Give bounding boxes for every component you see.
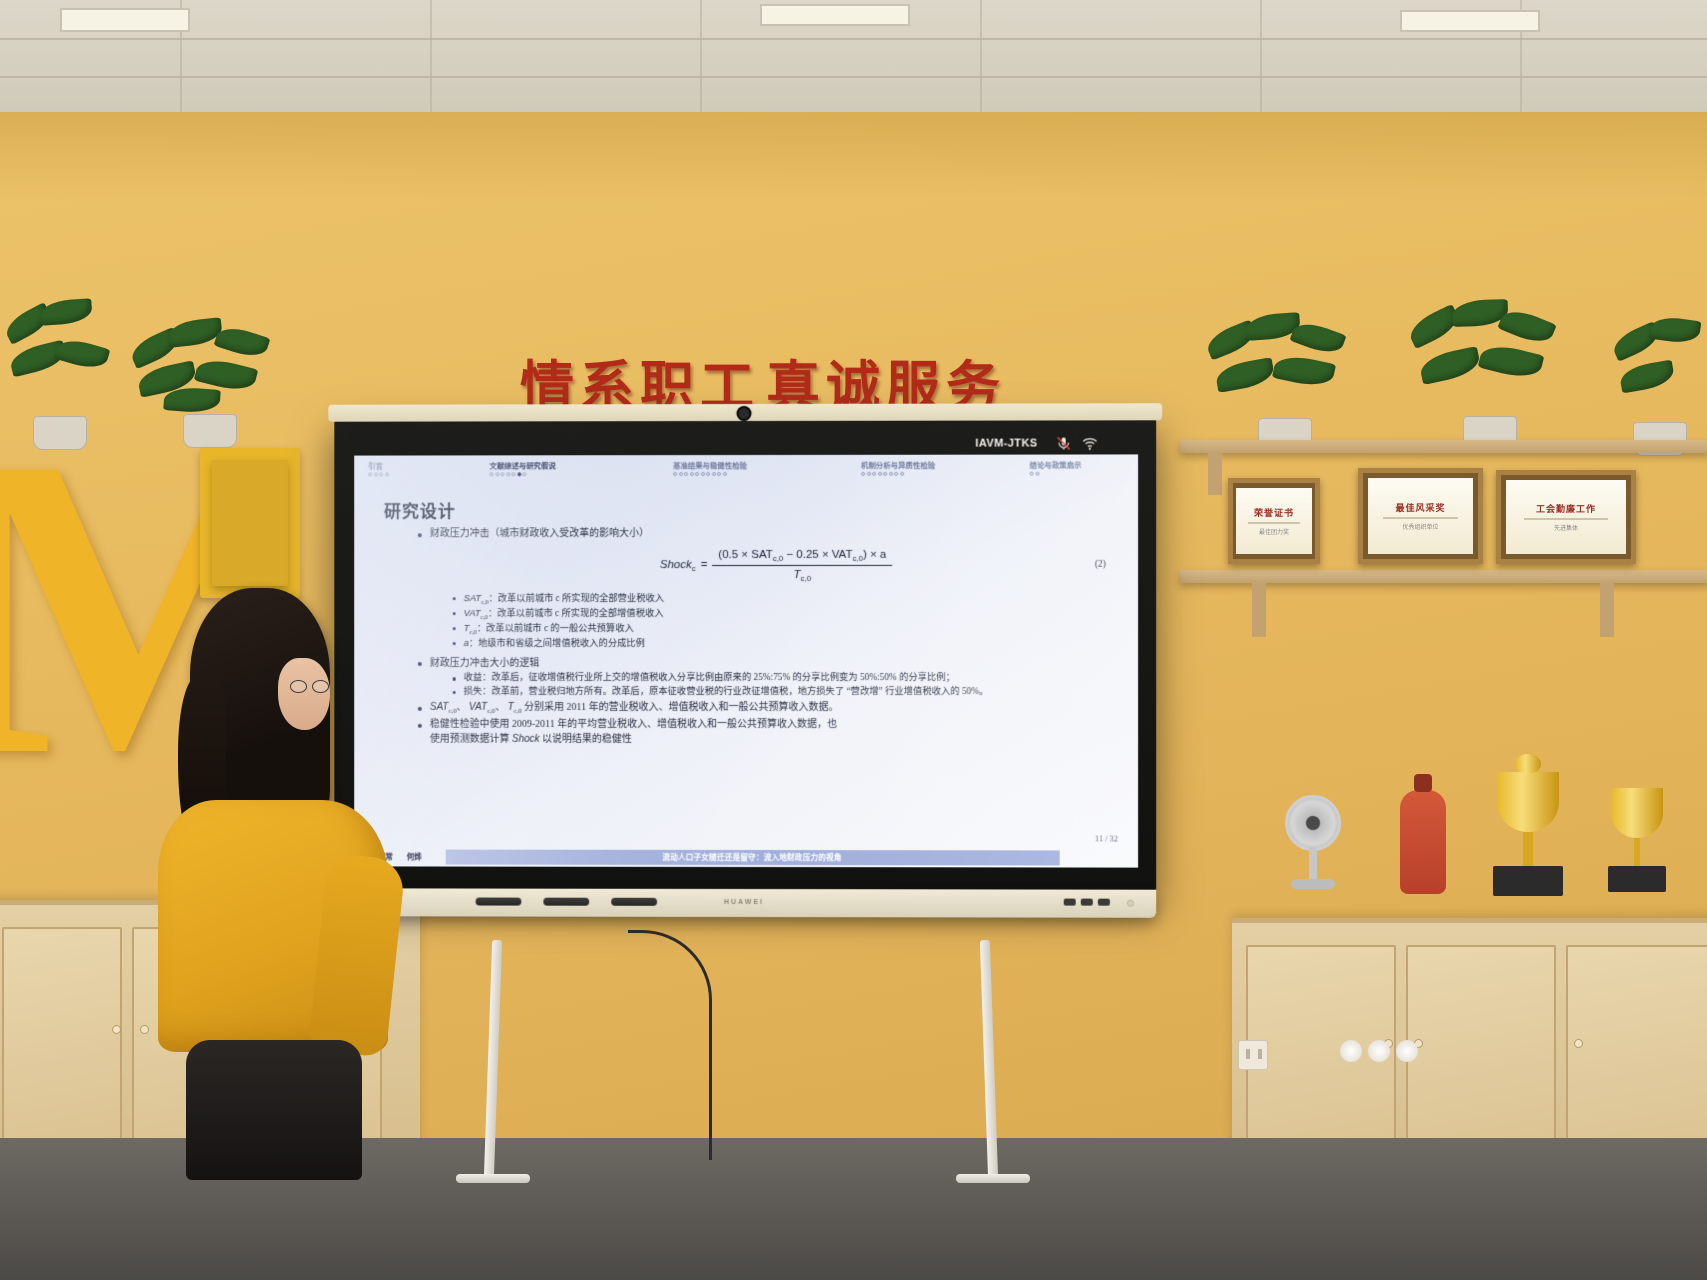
wall-shelf bbox=[1180, 570, 1707, 583]
nav-label: 机制分析与异质性检验 bbox=[861, 460, 1029, 471]
slide-title: 研究设计 bbox=[384, 497, 456, 522]
nav-label: 文献综述与研究假说 bbox=[490, 460, 674, 471]
nav-section-3[interactable]: 机制分析与异质性检验 bbox=[861, 460, 1029, 476]
nav-dot[interactable] bbox=[712, 472, 716, 476]
power-cable bbox=[628, 930, 712, 1160]
camera-icon bbox=[737, 406, 752, 421]
equation-number: (2) bbox=[1095, 558, 1106, 572]
shelf-bracket bbox=[1208, 453, 1222, 495]
certificate-frame: 工会勤廉工作 先进集体 bbox=[1496, 470, 1636, 564]
nav-dots-2 bbox=[673, 472, 861, 476]
bullet-text: 分别采用 2011 年的营业税收入、增值税收入和一般公共预算收入数据。 bbox=[522, 702, 839, 713]
slide-screen[interactable]: 引言 文献综述与研究假说 基准结果与稳健性检验 机制分析与异质性检验 结论与政策… bbox=[354, 454, 1138, 867]
wall-shadow bbox=[0, 112, 1707, 202]
display-button-pad[interactable] bbox=[1064, 899, 1110, 906]
nav-dot[interactable] bbox=[517, 472, 521, 476]
nav-dot[interactable] bbox=[673, 472, 677, 476]
nav-dot[interactable] bbox=[861, 472, 865, 476]
trophy-medium bbox=[1592, 768, 1682, 908]
nav-dot[interactable] bbox=[878, 472, 882, 476]
equation-row: Shockc = (0.5 × SATc,0 − 0.25 × VATc,0) … bbox=[430, 546, 1124, 585]
nav-dots-4 bbox=[1030, 472, 1082, 476]
nav-section-1[interactable]: 文献综述与研究假说 bbox=[490, 460, 674, 476]
black-trousers bbox=[186, 1040, 362, 1180]
definition-text: ：改革以前城市 c 所实现的全部营业税收入 bbox=[488, 594, 664, 604]
potted-plant bbox=[120, 318, 300, 448]
nav-dot[interactable] bbox=[872, 472, 876, 476]
definition-item: VATc,0：改革以前城市 c 所实现的全部增值税收入 bbox=[464, 607, 1124, 622]
nav-dot[interactable] bbox=[894, 472, 898, 476]
trophy-large bbox=[1478, 748, 1578, 908]
potted-plant bbox=[1200, 312, 1370, 452]
nav-section-2[interactable]: 基准结果与稳健性检验 bbox=[673, 460, 861, 476]
certificate-sub: 先进集体 bbox=[1554, 523, 1578, 532]
nav-dots-3 bbox=[861, 472, 1029, 476]
eq-fraction: (0.5 × SATc,0 − 0.25 × VATc,0) × a Tc,0 bbox=[712, 546, 892, 584]
nav-dot[interactable] bbox=[1030, 472, 1034, 476]
nav-dot[interactable] bbox=[883, 472, 887, 476]
nav-dot[interactable] bbox=[490, 472, 494, 476]
potted-plant bbox=[1400, 300, 1580, 450]
display-brandmark: HUAWEI bbox=[724, 899, 764, 906]
nav-dot[interactable] bbox=[900, 472, 904, 476]
definition-text: ：地级市和省级之间增值税收入的分成比例 bbox=[469, 639, 645, 649]
logic-item-loss: 损失：改革前，营业税归地方所有。改革后，原本征收营业税的行业改征增值税，地方损失… bbox=[464, 686, 1124, 700]
eq-lhs: Shockc bbox=[660, 557, 696, 575]
stand-foot-left bbox=[456, 1174, 530, 1183]
bottle-cap bbox=[1414, 774, 1432, 792]
desk-fan bbox=[1285, 795, 1341, 891]
definition-item: a：地级市和省级之间增值税收入的分成比例 bbox=[464, 637, 1124, 652]
nav-dot[interactable] bbox=[690, 472, 694, 476]
thermos-bottle bbox=[1400, 790, 1446, 894]
glasses bbox=[290, 680, 334, 694]
variable-definitions: SATc,0：改革以前城市 c 所实现的全部营业税收入 VATc,0：改革以前城… bbox=[464, 592, 1124, 652]
definition-text: ：改革以前城市 c 所实现的全部增值税收入 bbox=[488, 609, 664, 619]
ceiling bbox=[0, 0, 1707, 120]
nav-dot[interactable] bbox=[684, 472, 688, 476]
nav-dot[interactable] bbox=[522, 472, 526, 476]
wall-shelf bbox=[212, 460, 288, 586]
potted-plant bbox=[0, 300, 120, 450]
room-scene: 情 系 职 工 真 诚 服 务 M bbox=[0, 0, 1707, 1280]
nav-section-0[interactable]: 引言 bbox=[368, 460, 489, 476]
nav-dot[interactable] bbox=[889, 472, 893, 476]
wall-shelf bbox=[1180, 440, 1707, 453]
nav-dot[interactable] bbox=[679, 472, 683, 476]
nav-dot[interactable] bbox=[506, 472, 510, 476]
decorative-balls bbox=[1340, 1040, 1418, 1062]
nav-dot[interactable] bbox=[374, 472, 378, 476]
display-bezel-label: IAVM-JTKS bbox=[975, 438, 1037, 450]
wall-socket bbox=[1238, 1040, 1268, 1070]
display-status-icons bbox=[1056, 435, 1098, 451]
shelf-bracket bbox=[1600, 583, 1614, 637]
slide-section-nav: 引言 文献综述与研究假说 基准结果与稳健性检验 机制分析与异质性检验 结论与政策… bbox=[354, 454, 1138, 489]
definition-item: SATc,0：改革以前城市 c 所实现的全部营业税收入 bbox=[464, 592, 1124, 607]
definition-text: ：改革以前城市 c 的一般公共预算收入 bbox=[477, 624, 634, 634]
nav-dot[interactable] bbox=[706, 472, 710, 476]
slide-footer: 张训常 何烨 流动人口子女随迁还是留守：流入地财政压力的视角 bbox=[354, 847, 1138, 867]
nav-label: 结论与政策启示 bbox=[1030, 460, 1082, 471]
nav-dot[interactable] bbox=[511, 472, 515, 476]
nav-dot[interactable] bbox=[385, 472, 389, 476]
nav-dot[interactable] bbox=[717, 472, 721, 476]
display-bottom-bezel: HUAWEI bbox=[334, 888, 1156, 918]
nav-dot[interactable] bbox=[695, 472, 699, 476]
certificate-frame: 荣誉证书 最佳团力奖 bbox=[1228, 478, 1320, 564]
presenter-person bbox=[150, 588, 410, 1180]
bullet-data-source: SATc,0、 VATc,0、 Tc,0 分别采用 2011 年的营业税收入、增… bbox=[430, 701, 1124, 717]
nav-dot[interactable] bbox=[867, 472, 871, 476]
nav-dot[interactable] bbox=[1035, 472, 1039, 476]
shelf-bracket bbox=[1252, 583, 1266, 637]
bullet-shock-logic: 财政压力冲击大小的逻辑 收益：改革后，征收增值税行业所上交的增值税收入分享比例由… bbox=[430, 657, 1124, 700]
logic-item-gain: 收益：改革后，征收增值税行业所上交的增值税收入分享比例由原来的 25%:75% … bbox=[464, 672, 1124, 686]
slide-page-number: 11 / 32 bbox=[1095, 834, 1118, 843]
bullet-text: 财政压力冲击大小的逻辑 bbox=[430, 658, 540, 669]
potted-plant bbox=[1610, 316, 1707, 456]
certificate-title: 荣誉证书 bbox=[1254, 506, 1294, 519]
nav-section-4[interactable]: 结论与政策启示 bbox=[1030, 460, 1082, 476]
definition-symbol: VAT bbox=[464, 608, 481, 618]
nav-label: 引言 bbox=[368, 460, 489, 471]
mic-muted-icon bbox=[1056, 435, 1072, 451]
face bbox=[278, 658, 330, 730]
footer-presentation-title: 流动人口子女随迁还是留守：流入地财政压力的视角 bbox=[446, 850, 1060, 866]
eq-denominator: Tc,0 bbox=[788, 566, 817, 585]
smartboard-display[interactable]: IAVM-JTKS 引言 bbox=[334, 414, 1156, 895]
shock-equation: Shockc = (0.5 × SATc,0 − 0.25 × VATc,0) … bbox=[660, 546, 893, 584]
certificate-title: 工会勤廉工作 bbox=[1536, 502, 1596, 515]
nav-dots-0 bbox=[368, 472, 489, 476]
nav-dot[interactable] bbox=[379, 472, 383, 476]
logic-list: 收益：改革后，征收增值税行业所上交的增值税收入分享比例由原来的 25%:75% … bbox=[464, 672, 1124, 699]
certificate-title: 最佳风采奖 bbox=[1395, 501, 1445, 514]
bullet-text: 稳健性检验中使用 2009-2011 年的平均营业税收入、增值税收入和一般公共预… bbox=[430, 719, 837, 730]
eq-equals: = bbox=[701, 557, 708, 574]
nav-dot[interactable] bbox=[500, 472, 504, 476]
slide-body: 财政压力冲击（城市财政收入受改革的影响大小） Shockc = (0.5 × S… bbox=[384, 527, 1124, 749]
eq-numerator: (0.5 × SATc,0 − 0.25 × VATc,0) × a bbox=[712, 546, 892, 565]
bullet-robustness: 稳健性检验中使用 2009-2011 年的平均营业税收入、增值税收入和一般公共预… bbox=[430, 718, 1124, 747]
nav-label: 基准结果与稳健性检验 bbox=[673, 460, 861, 471]
nav-dots-1 bbox=[490, 472, 674, 476]
nav-dot[interactable] bbox=[368, 473, 372, 477]
definition-item: Tc,0：改革以前城市 c 的一般公共预算收入 bbox=[464, 622, 1124, 637]
certificate-sub: 优秀组织单位 bbox=[1402, 522, 1438, 531]
bullet-text: 财政压力冲击（城市财政收入受改革的影响大小） bbox=[430, 528, 649, 539]
power-button[interactable] bbox=[1127, 900, 1134, 907]
bullet-fiscal-shock: 财政压力冲击（城市财政收入受改革的影响大小） Shockc = (0.5 × S… bbox=[430, 527, 1124, 652]
definition-symbol: SAT bbox=[464, 593, 481, 603]
certificate-frame: 最佳风采奖 优秀组织单位 bbox=[1358, 468, 1483, 564]
nav-dot[interactable] bbox=[495, 472, 499, 476]
nav-dot[interactable] bbox=[701, 472, 705, 476]
stand-foot-right bbox=[956, 1174, 1030, 1183]
wifi-icon bbox=[1082, 435, 1098, 451]
certificate-sub: 最佳团力奖 bbox=[1259, 527, 1289, 536]
nav-dot[interactable] bbox=[723, 472, 727, 476]
